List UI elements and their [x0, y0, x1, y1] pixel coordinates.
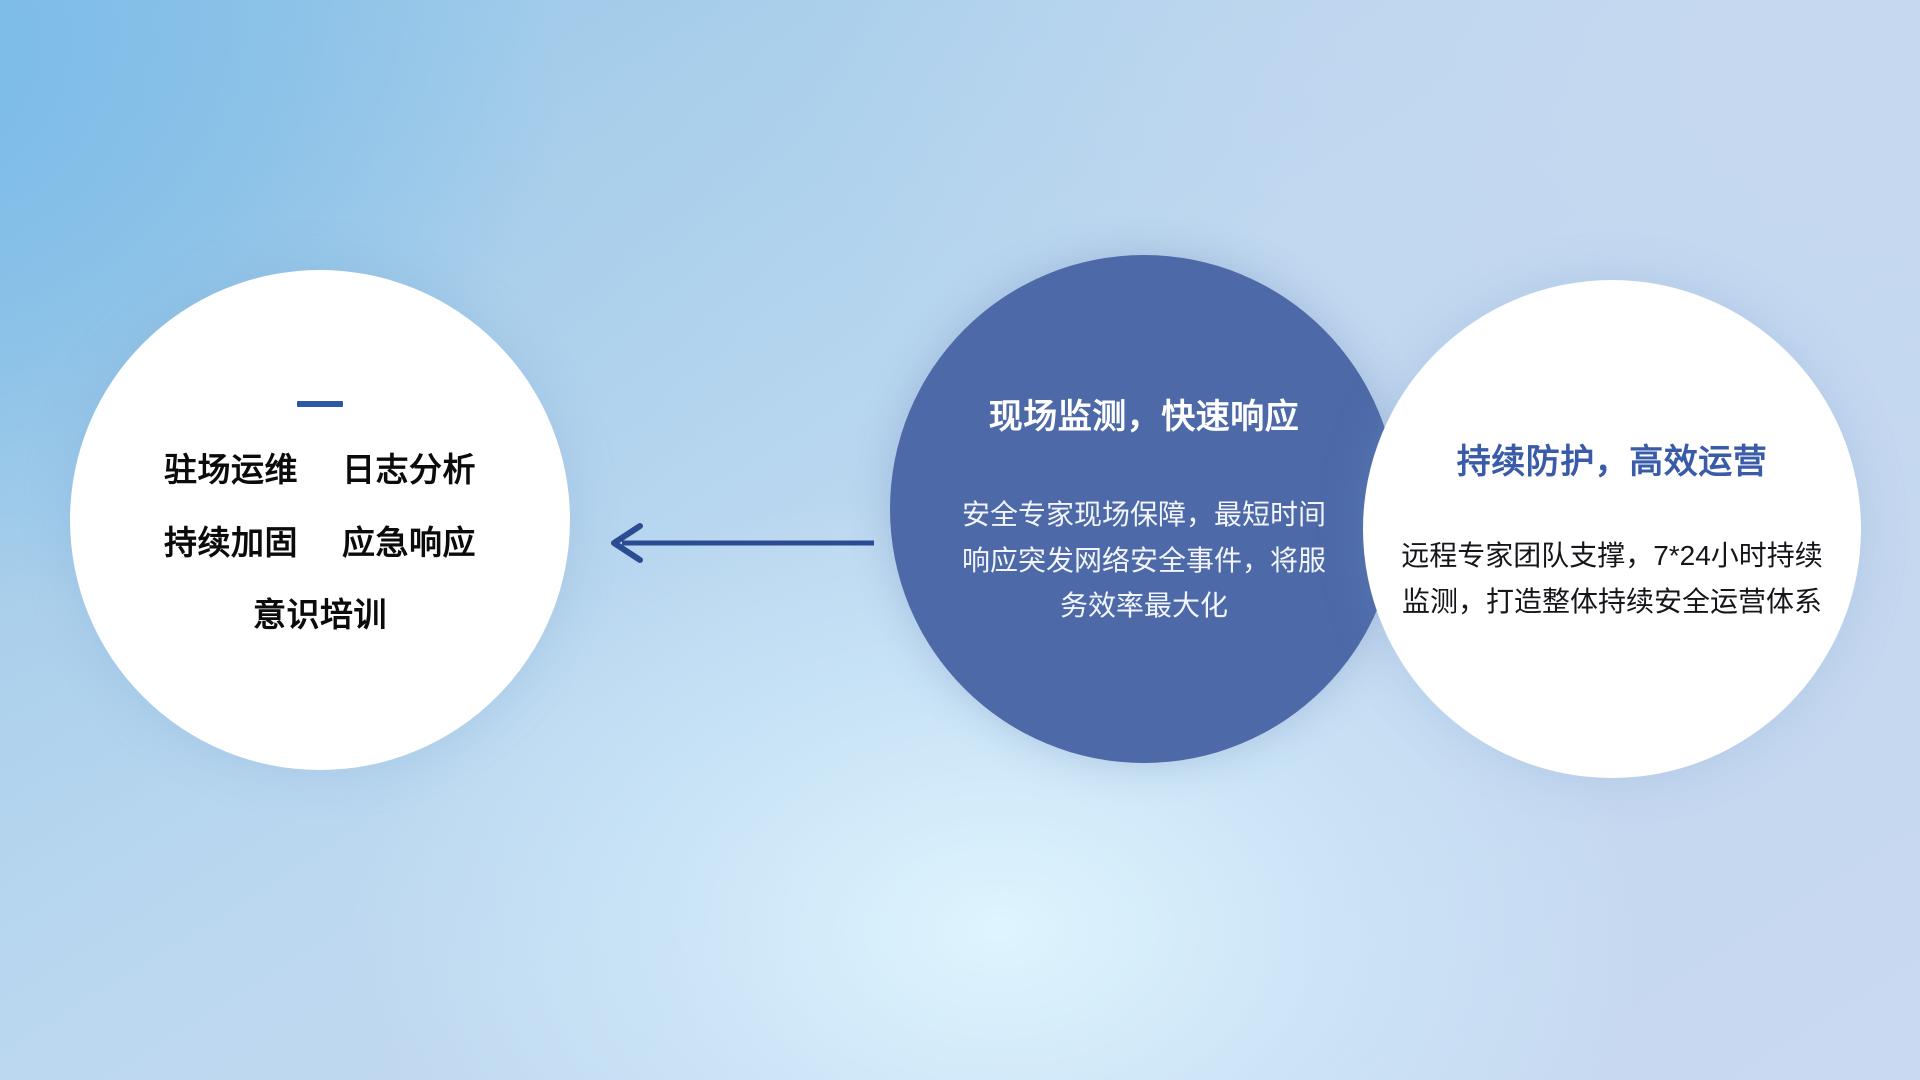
keyword-row-3: 意识培训 — [110, 598, 530, 633]
right-circle-heading: 持续防护，高效运营 — [1392, 434, 1832, 483]
left-circle-content: 驻场运维 日志分析 持续加固 应急响应 意识培训 — [110, 401, 530, 639]
keyword-tag: 应急响应 — [342, 526, 476, 561]
middle-circle-content: 现场监测，快速响应 安全专家现场保障，最短时间响应突发网络安全事件，将服务效率最… — [934, 389, 1354, 628]
left-capability-circle[interactable]: 驻场运维 日志分析 持续加固 应急响应 意识培训 — [70, 270, 570, 770]
keyword-row-2: 持续加固 应急响应 — [110, 526, 530, 561]
keyword-tag: 日志分析 — [342, 453, 476, 488]
continuous-protection-circle[interactable]: 持续防护，高效运营 远程专家团队支撑，7*24小时持续监测，打造整体持续安全运营… — [1363, 280, 1861, 778]
arrow-left-icon — [596, 520, 876, 566]
keyword-tag: 持续加固 — [164, 526, 298, 561]
slide-canvas: 驻场运维 日志分析 持续加固 应急响应 意识培训 现场监测，快速响应 安全专家现… — [0, 0, 1920, 1080]
keyword-row-1: 驻场运维 日志分析 — [110, 453, 530, 488]
divider-dash-icon — [297, 401, 343, 407]
right-circle-content: 持续防护，高效运营 远程专家团队支撑，7*24小时持续监测，打造整体持续安全运营… — [1392, 434, 1832, 624]
onsite-monitoring-circle[interactable]: 现场监测，快速响应 安全专家现场保障，最短时间响应突发网络安全事件，将服务效率最… — [890, 255, 1398, 763]
keyword-tag: 意识培训 — [253, 598, 387, 633]
right-circle-body: 远程专家团队支撑，7*24小时持续监测，打造整体持续安全运营体系 — [1400, 533, 1824, 624]
middle-circle-body: 安全专家现场保障，最短时间响应突发网络安全事件，将服务效率最大化 — [960, 492, 1328, 628]
middle-circle-heading: 现场监测，快速响应 — [934, 389, 1354, 438]
flow-arrow-left — [596, 520, 876, 566]
keyword-tag: 驻场运维 — [164, 453, 298, 488]
